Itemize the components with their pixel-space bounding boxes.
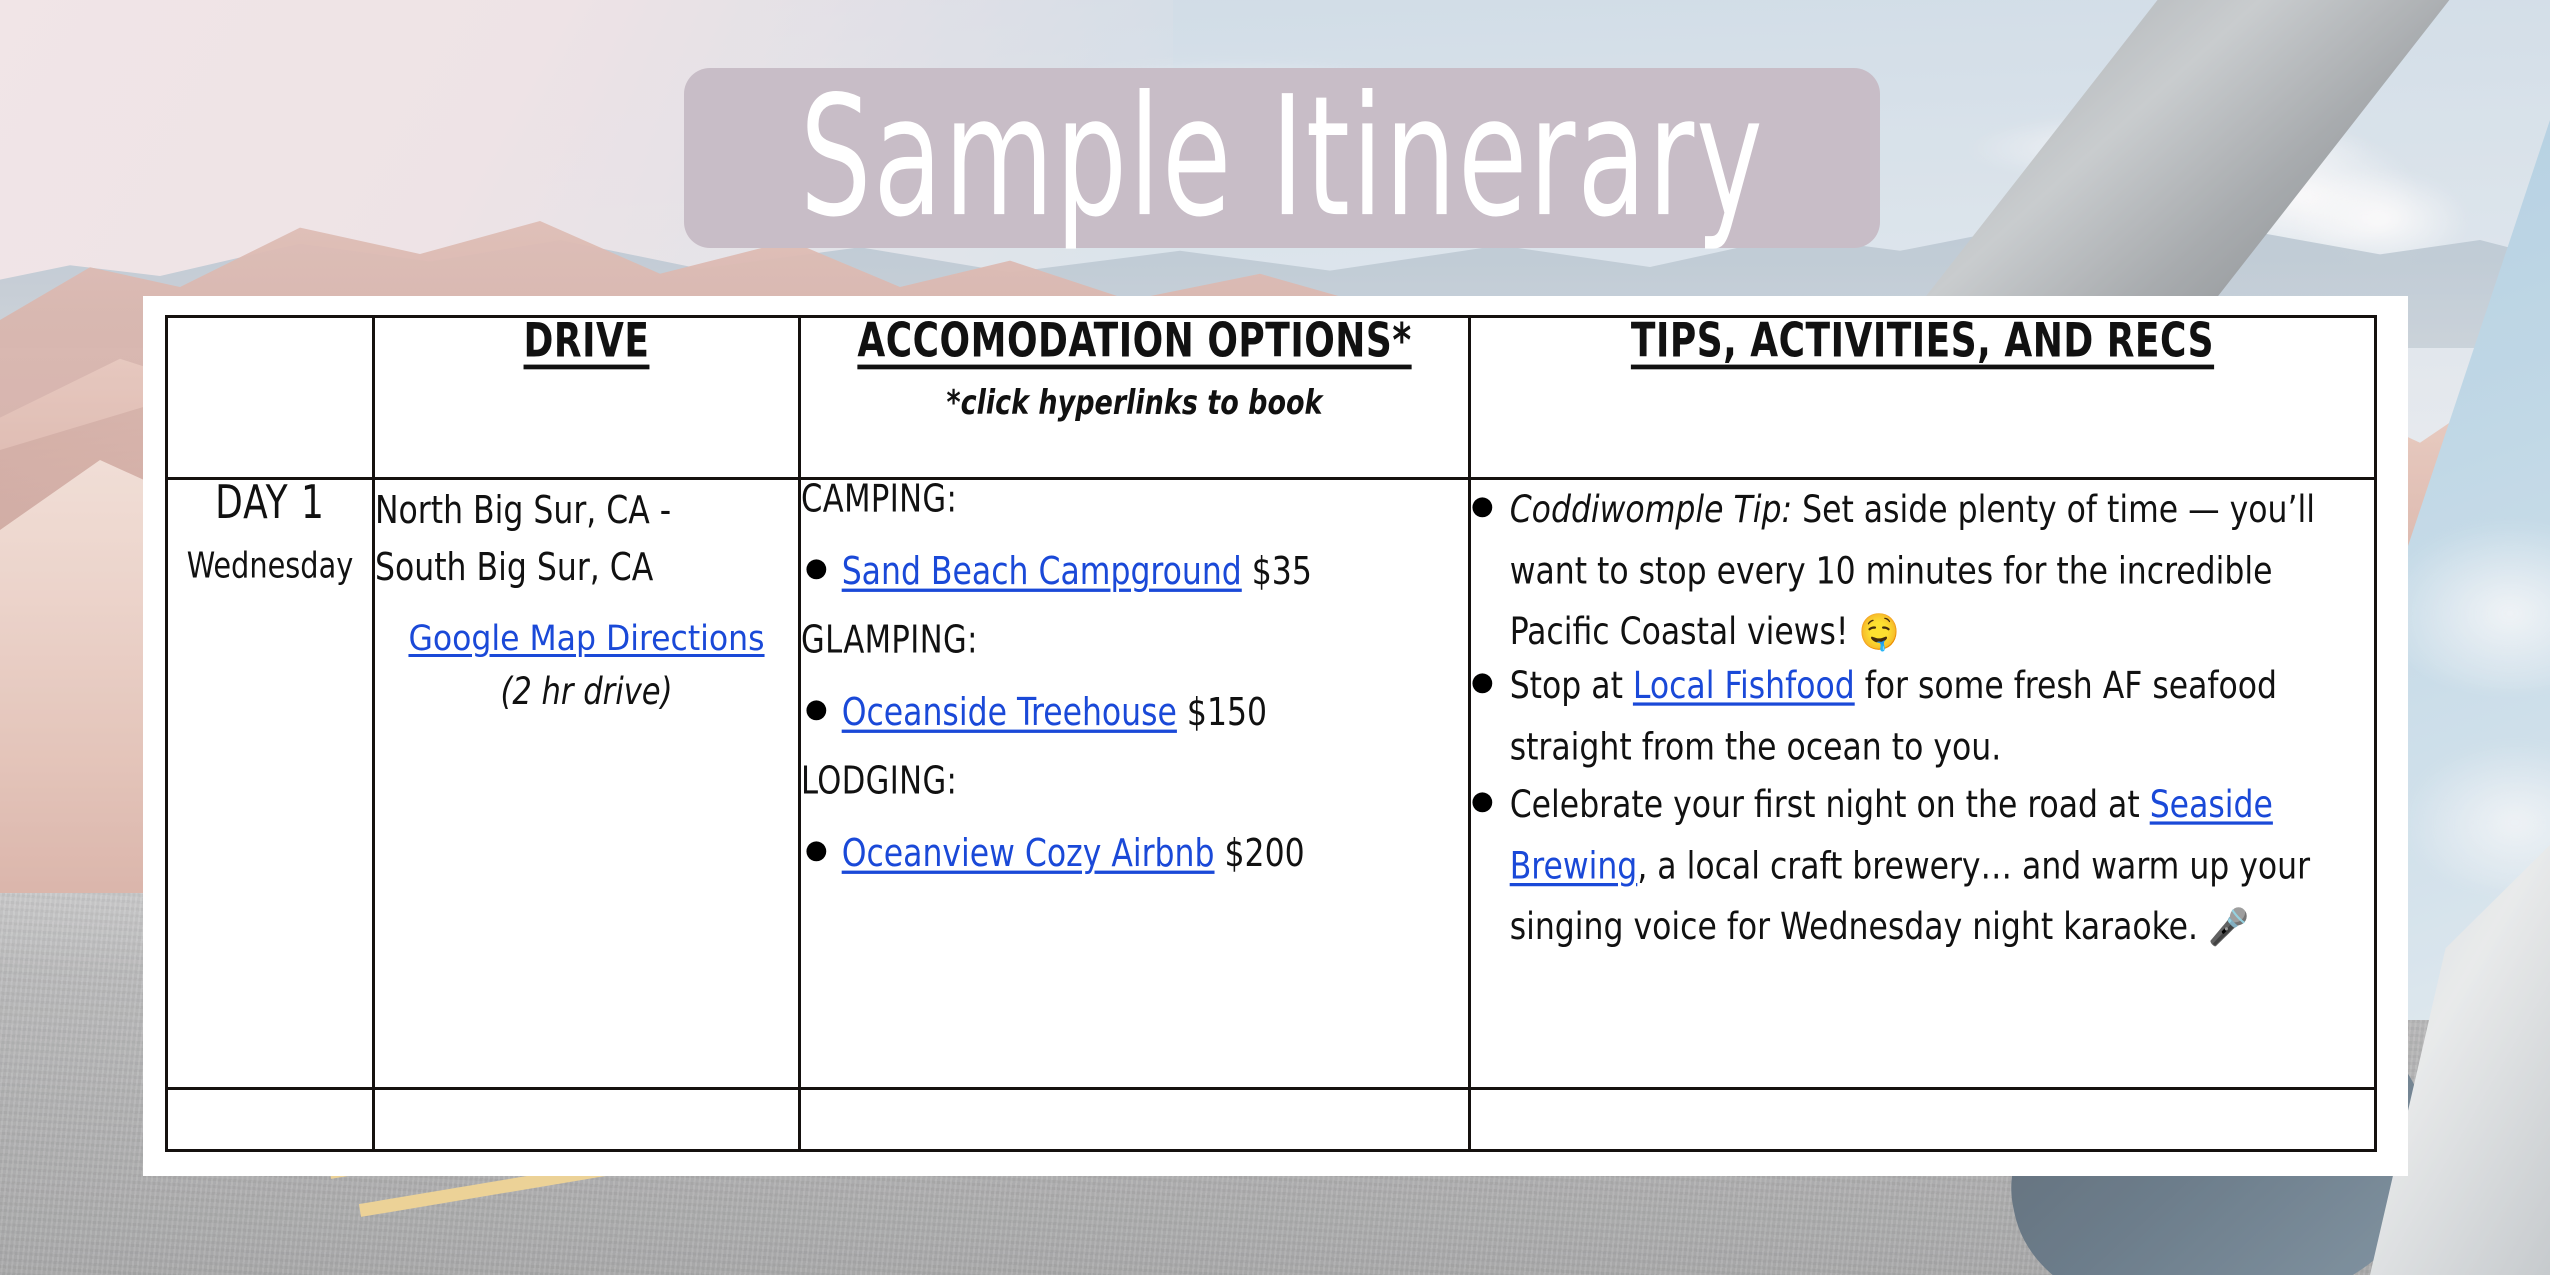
tip-text: Coddiwomple Tip: Set aside plenty of tim… [1510,480,2374,664]
drive-origin: North Big Sur, CA - [375,480,798,542]
local-fishfood-link[interactable]: Local Fishfood [1633,665,1855,708]
tip-item: ● Celebrate your first night on the road… [1471,775,2374,945]
header-subtitle-accommodation: *click hyperlinks to book [801,384,1468,423]
title-banner: Sample Itinerary [684,68,1880,248]
tips-cell: ● Coddiwomple Tip: Set aside plenty of t… [1470,479,2376,1089]
tip-lead: Coddiwomple Tip: [1510,489,1792,532]
header-label-tips: TIPS, ACTIVITIES, AND RECS [1631,314,2214,368]
bullet-icon: ● [805,690,828,729]
accommodation-price: $150 [1187,691,1267,735]
drooling-face-icon: 🤤 [1858,611,1899,653]
accommodation-cell-next [800,1089,1470,1151]
accommodation-text: Oceanside Treehouse $150 [842,690,1267,736]
header-label-drive: DRIVE [524,314,650,368]
day-weekday: Wednesday [187,544,354,587]
day-cell-next [167,1089,374,1151]
tip-prefix: Stop at [1510,665,1633,708]
drive-map-link-wrap: Google Map Directions [375,611,798,668]
tip-text: Stop at Local Fishfood for some fresh AF… [1510,656,2374,778]
accommodation-text: Sand Beach Campground $35 [842,549,1312,595]
tip-prefix: Celebrate your first night on the road a… [1510,784,2150,827]
accommodation-category-camping: CAMPING: [801,478,1468,522]
accommodation-item: ● Oceanview Cozy Airbnb $200 [805,831,1468,873]
drive-duration: (2 hr drive) [375,670,798,714]
accommodation-cell: CAMPING: ● Sand Beach Campground $35 GLA… [800,479,1470,1089]
header-cell-tips: TIPS, ACTIVITIES, AND RECS [1470,317,2376,479]
header-cell-accommodation: ACCOMODATION OPTIONS* *click hyperlinks … [800,317,1470,479]
bullet-icon: ● [805,831,828,870]
accommodation-item: ● Oceanside Treehouse $150 [805,690,1468,732]
microphone-icon: 🎤 [2208,907,2249,949]
tip-item: ● Stop at Local Fishfood for some fresh … [1471,656,2374,769]
page-title: Sample Itinerary [800,75,1765,241]
accommodation-price: $200 [1225,832,1305,876]
accommodation-item: ● Sand Beach Campground $35 [805,549,1468,591]
tips-cell-next [1470,1089,2376,1151]
table-header-row: DRIVE ACCOMODATION OPTIONS* *click hyper… [167,317,2376,479]
bullet-icon: ● [1471,775,1494,827]
header-label-accommodation: ACCOMODATION OPTIONS* [857,314,1411,368]
google-map-directions-link[interactable]: Google Map Directions [408,619,764,659]
header-cell-drive: DRIVE [374,317,800,479]
tip-text: Celebrate your first night on the road a… [1510,775,2374,959]
oceanview-cozy-airbnb-link[interactable]: Oceanview Cozy Airbnb [842,832,1215,876]
table-row-day-1: DAY 1 Wednesday North Big Sur, CA - Sout… [167,479,2376,1089]
day-number: DAY 1 [215,477,325,530]
accommodation-category-lodging: LODGING: [801,760,1468,804]
day-cell: DAY 1 Wednesday [167,479,374,1089]
table-row-next-partial [167,1089,2376,1151]
bullet-icon: ● [1471,656,1494,708]
drive-cell-next [374,1089,800,1151]
accommodation-price: $35 [1252,550,1312,594]
bullet-icon: ● [1471,480,1494,532]
oceanside-treehouse-link[interactable]: Oceanside Treehouse [842,691,1177,735]
drive-cell: North Big Sur, CA - South Big Sur, CA Go… [374,479,800,1089]
itinerary-sheet: DRIVE ACCOMODATION OPTIONS* *click hyper… [143,296,2408,1176]
accommodation-category-glamping: GLAMPING: [801,619,1468,663]
sand-beach-campground-link[interactable]: Sand Beach Campground [842,550,1242,594]
tip-item: ● Coddiwomple Tip: Set aside plenty of t… [1471,480,2374,650]
accommodation-text: Oceanview Cozy Airbnb $200 [842,831,1305,877]
header-cell-blank [167,317,374,479]
bullet-icon: ● [805,549,828,588]
drive-destination: South Big Sur, CA [375,537,798,599]
itinerary-table: DRIVE ACCOMODATION OPTIONS* *click hyper… [165,315,2377,1152]
